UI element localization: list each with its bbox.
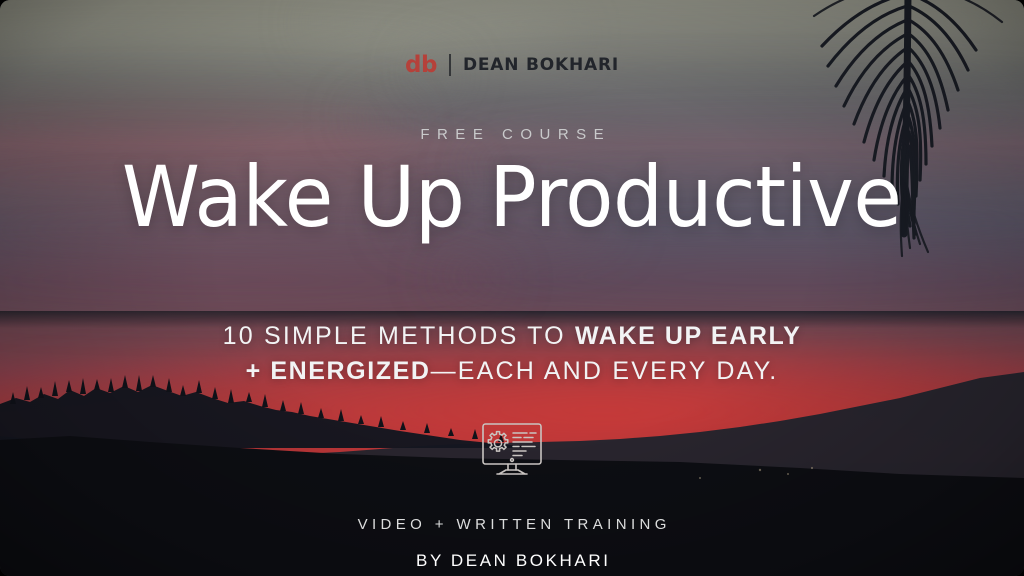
subtitle-line-1: 10 SIMPLE METHODS TO WAKE UP EARLY	[223, 319, 802, 355]
subtitle-line-2: + ENERGIZED—EACH AND EVERY DAY.	[223, 354, 802, 390]
subtitle-line-1-light: 10 SIMPLE METHODS TO	[223, 322, 575, 350]
course-eyebrow-label: FREE COURSE	[413, 126, 611, 143]
author-credit-label: BY DEAN BOKHARI	[413, 551, 610, 571]
poster-content: db DEAN BOKHARI FREE COURSE Wake Up Prod…	[0, 0, 1024, 576]
subtitle-line-1-bold: WAKE UP EARLY	[575, 322, 801, 350]
brand-logo[interactable]: db DEAN BOKHARI	[405, 52, 619, 78]
subtitle-line-2-bold: + ENERGIZED	[246, 357, 431, 385]
brand-monogram: db	[405, 54, 437, 77]
training-format-label: VIDEO + WRITTEN TRAINING	[353, 516, 671, 533]
monitor-gear-code-icon	[475, 422, 549, 480]
logo-divider	[449, 54, 451, 76]
brand-name: DEAN BOKHARI	[463, 57, 619, 74]
course-subtitle: 10 SIMPLE METHODS TO WAKE UP EARLY + ENE…	[223, 319, 802, 390]
subtitle-line-2-light: —EACH AND EVERY DAY.	[431, 357, 779, 385]
course-promo-poster: db DEAN BOKHARI FREE COURSE Wake Up Prod…	[0, 0, 1024, 576]
page-title: Wake Up Productive	[122, 155, 902, 241]
